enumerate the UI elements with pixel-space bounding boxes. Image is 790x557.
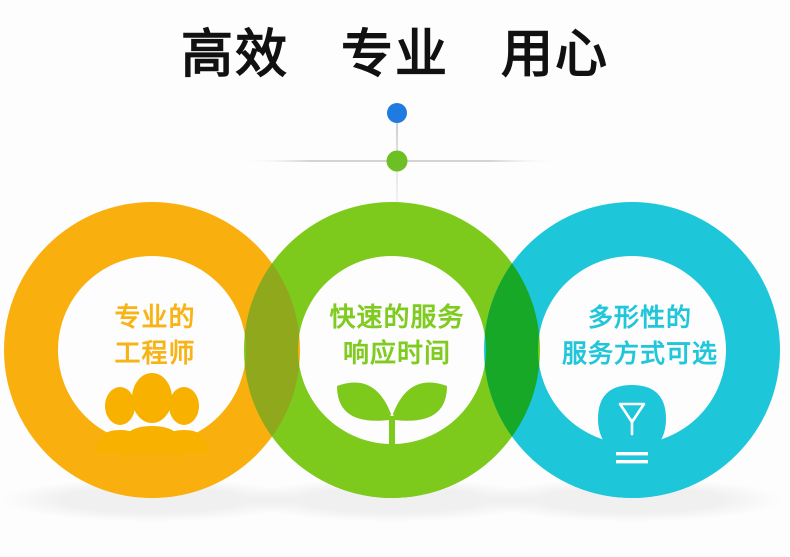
circle-label-orange-line-2: 工程师 bbox=[45, 336, 265, 372]
circle-label-orange-line-1: 专业的 bbox=[45, 300, 265, 336]
circle-label-green-line-2: 响应时间 bbox=[287, 336, 507, 372]
circle-label-cyan-line-1: 多形性的 bbox=[525, 300, 755, 336]
infographic-canvas: 高效专业用心 bbox=[0, 0, 790, 557]
venn-rings-graphic bbox=[0, 0, 790, 557]
circle-label-cyan: 多形性的 服务方式可选 bbox=[525, 300, 755, 372]
circle-label-green-line-1: 快速的服务 bbox=[287, 300, 507, 336]
circle-label-orange: 专业的 工程师 bbox=[45, 300, 265, 372]
circle-label-green: 快速的服务 响应时间 bbox=[287, 300, 507, 372]
circle-label-cyan-line-2: 服务方式可选 bbox=[525, 336, 755, 372]
